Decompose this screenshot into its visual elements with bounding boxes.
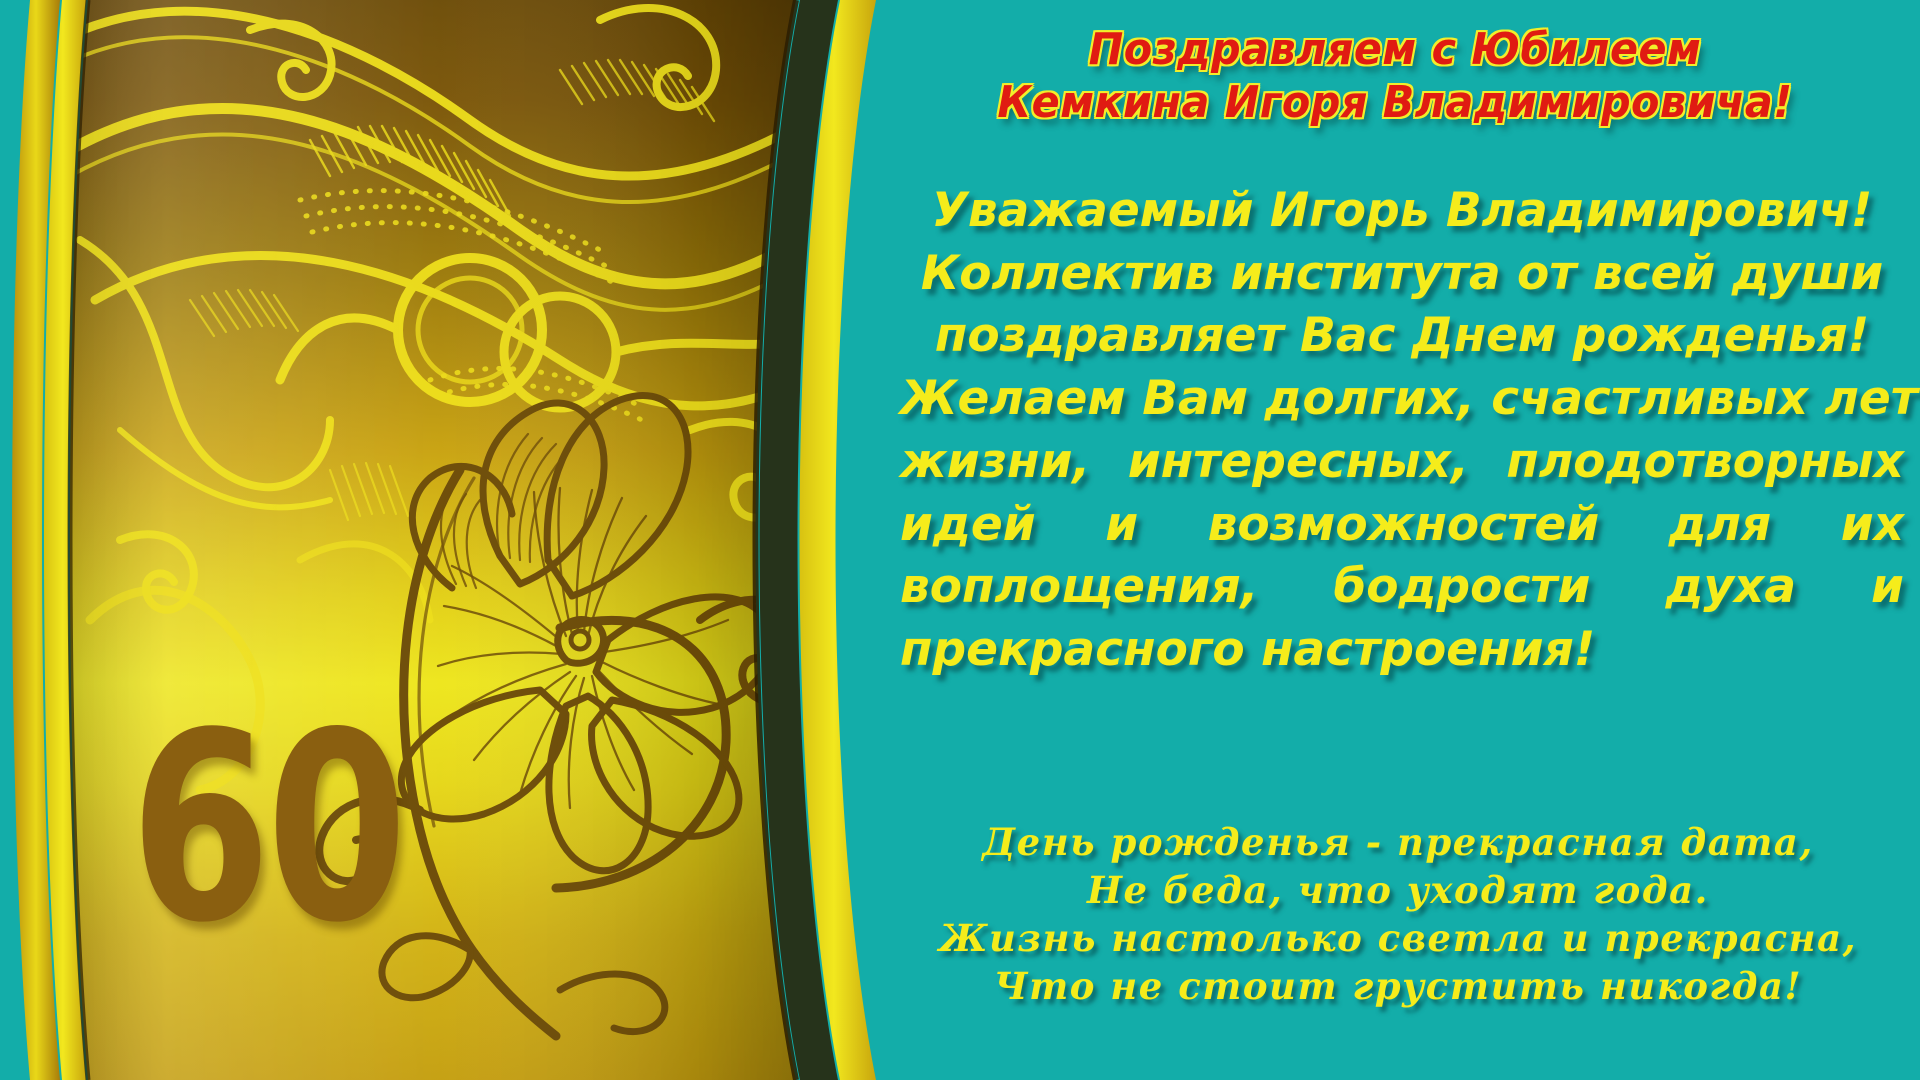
body-line-8: прекрасного настроения! xyxy=(900,619,1904,682)
body-word: возможностей xyxy=(1208,494,1600,557)
body-line-7: воплощения, бодрости духа и xyxy=(900,556,1904,619)
poem-line-2: Не беда, что уходят года. xyxy=(888,866,1908,914)
body-word: духа xyxy=(1665,556,1796,619)
poem-block: День рожденья - прекрасная дата, Не беда… xyxy=(888,818,1908,1010)
body-line-6: идей и возможностей для их xyxy=(900,494,1904,557)
message-column: Поздравляем с Юбилеем Кемкина Игоря Влад… xyxy=(888,0,1920,1080)
congratulation-body: Уважаемый Игорь Владимирович! Коллектив … xyxy=(900,180,1904,682)
body-line-1: Уважаемый Игорь Владимирович! xyxy=(900,180,1904,243)
body-word: жизни, xyxy=(900,431,1090,494)
body-word: их xyxy=(1841,494,1904,557)
anniversary-number: 60 xyxy=(130,715,403,944)
body-line-3: поздравляет Вас Днем рожденья! xyxy=(900,305,1904,368)
body-word: интересных, xyxy=(1128,431,1469,494)
body-word: плодотворных xyxy=(1506,431,1904,494)
body-word: и xyxy=(1871,556,1904,619)
body-word: для xyxy=(1669,494,1772,557)
poem-line-1: День рожденья - прекрасная дата, xyxy=(888,818,1908,866)
body-word: бодрости xyxy=(1333,556,1590,619)
body-line-4: Желаем Вам долгих, счастливых лет xyxy=(900,368,1904,431)
body-line-2: Коллектив института от всей души xyxy=(900,243,1904,306)
greeting-card: 60 Поздравляем с Юбилеем Кемкина Игоря В… xyxy=(0,0,1920,1080)
body-line-5: жизни, интересных, плодотворных xyxy=(900,431,1904,494)
body-word: и xyxy=(1105,494,1138,557)
page-title: Поздравляем с Юбилеем Кемкина Игоря Влад… xyxy=(918,24,1871,130)
poem-line-3: Жизнь настолько светла и прекрасна, xyxy=(888,914,1908,962)
body-word: идей xyxy=(900,494,1036,557)
gold-ornamental-panel: 60 xyxy=(0,0,960,1080)
body-word: воплощения, xyxy=(900,556,1259,619)
poem-line-4: Что не стоит грустить никогда! xyxy=(888,962,1908,1010)
